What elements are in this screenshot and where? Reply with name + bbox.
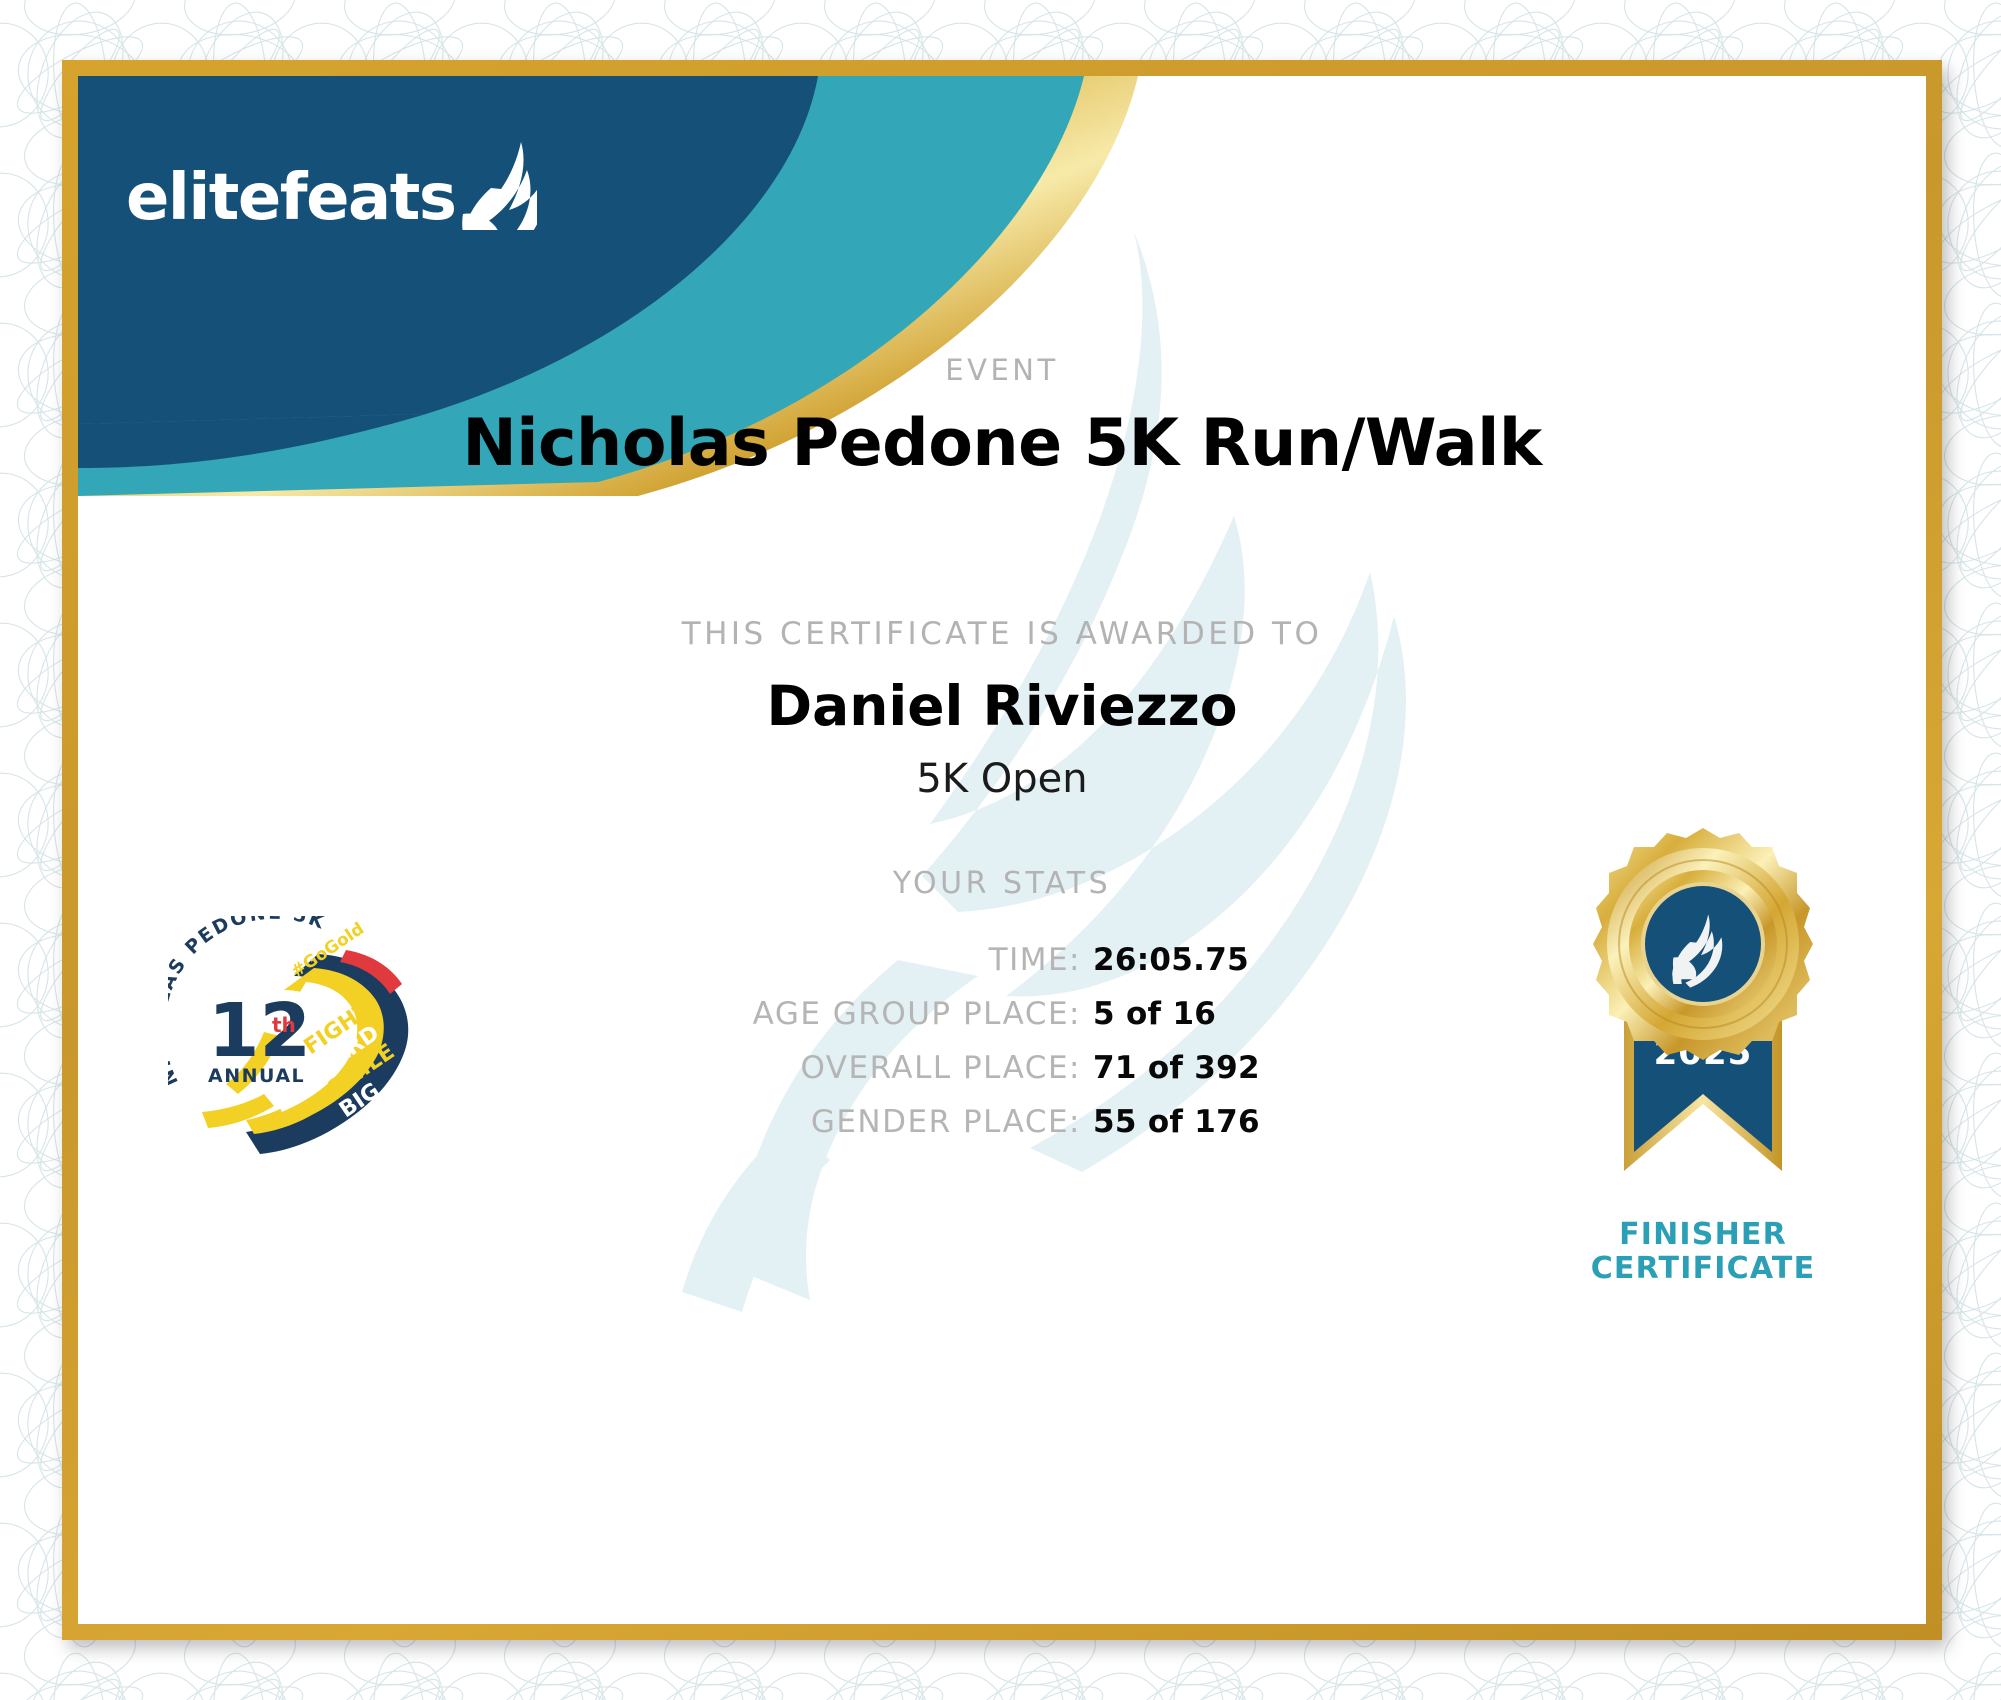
recipient-name: Daniel Riviezzo: [78, 674, 1926, 738]
gold-border-frame: elitefeats EVENT Nicholas Pedone 5K Run/…: [62, 60, 1942, 1640]
logo-edition-suffix: th: [272, 1013, 296, 1037]
certificate-page: elitefeats EVENT Nicholas Pedone 5K Run/…: [0, 0, 2001, 1700]
finisher-caption-line-1: FINISHER: [1591, 1218, 1816, 1252]
stat-value: 71 of 392: [1093, 1050, 1353, 1086]
finisher-medal-block: 2025: [1568, 816, 1838, 1285]
stat-value: 5 of 16: [1093, 996, 1353, 1032]
stat-key: AGE GROUP PLACE:: [651, 996, 1081, 1032]
finisher-certificate-caption: FINISHER CERTIFICATE: [1591, 1218, 1816, 1285]
event-label: EVENT: [78, 353, 1926, 387]
awarded-to-label: THIS CERTIFICATE IS AWARDED TO: [78, 616, 1926, 652]
event-name: Nicholas Pedone 5K Run/Walk: [78, 406, 1926, 481]
stat-value: 26:05.75: [1093, 942, 1353, 978]
certificate-content: EVENT Nicholas Pedone 5K Run/Walk THIS C…: [78, 76, 1926, 1624]
stat-value: 55 of 176: [1093, 1104, 1353, 1140]
certificate-card: elitefeats EVENT Nicholas Pedone 5K Run/…: [78, 76, 1926, 1624]
race-event-logo: 12 ANNUAL th NICHOLAS PEDONE 5K #GoGold …: [168, 916, 418, 1166]
stat-key: TIME:: [651, 942, 1081, 978]
stat-key: OVERALL PLACE:: [651, 1050, 1081, 1086]
recipient-division: 5K Open: [78, 756, 1926, 802]
stat-key: GENDER PLACE:: [651, 1104, 1081, 1140]
finisher-medal: 2025: [1568, 816, 1838, 1216]
logo-annual-text: ANNUAL: [208, 1065, 305, 1087]
finisher-caption-line-2: CERTIFICATE: [1591, 1252, 1816, 1286]
